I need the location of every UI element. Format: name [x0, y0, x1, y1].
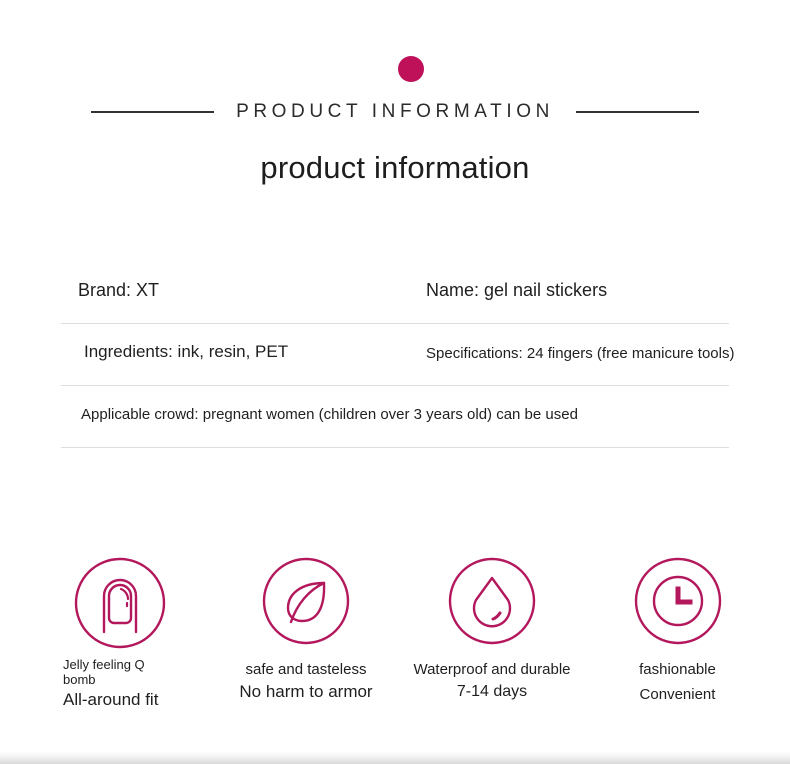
page-bottom-edge	[0, 751, 790, 764]
spec-row: Ingredients: ink, resin, PET Specificati…	[61, 324, 729, 386]
spec-ingredients-label: Ingredients: ink, resin, PET	[84, 324, 288, 363]
product-information-page: PRODUCT INFORMATION product information …	[0, 0, 790, 764]
spec-row: Applicable crowd: pregnant women (childr…	[61, 386, 729, 448]
feature-caption-large: Convenient	[640, 684, 716, 706]
feature-caption-small: safe and tasteless	[246, 662, 367, 677]
spec-row: Brand: XT Name: gel nail stickers	[61, 262, 729, 324]
clock-icon	[633, 556, 723, 646]
feature-caption-large: All-around fit	[63, 689, 158, 711]
eyebrow-title: PRODUCT INFORMATION	[236, 98, 554, 126]
feature-caption-small: fashionable	[639, 662, 716, 677]
feature-caption-large: No harm to armor	[239, 681, 372, 703]
spec-name-label: Name: gel nail stickers	[426, 262, 607, 301]
spec-specifications-label: Specifications: 24 fingers (free manicur…	[426, 326, 734, 365]
feature-caption-small: Jelly feeling Q bomb	[63, 657, 168, 687]
specification-list: Brand: XT Name: gel nail stickers Ingred…	[61, 262, 729, 448]
feature-caption-large: 7-14 days	[457, 681, 527, 703]
brand-logo	[0, 52, 790, 86]
feature-item: safe and tasteless No harm to armor	[236, 556, 376, 703]
feature-item: Waterproof and durable 7-14 days	[412, 556, 572, 703]
three-crescent-dots-logo-icon	[366, 56, 424, 82]
eyebrow-rule-right	[576, 111, 699, 113]
spec-brand-label: Brand: XT	[78, 262, 159, 301]
fingernail-icon	[73, 556, 167, 650]
water-drop-icon	[447, 556, 537, 646]
feature-caption-small: Waterproof and durable	[413, 662, 570, 677]
leaf-icon	[261, 556, 351, 646]
spec-applicable-crowd-label: Applicable crowd: pregnant women (childr…	[81, 387, 578, 426]
feature-item: Jelly feeling Q bomb All-around fit	[63, 556, 181, 711]
feature-item: fashionable Convenient	[600, 556, 755, 706]
eyebrow-rule-left	[91, 111, 214, 113]
section-eyebrow: PRODUCT INFORMATION	[0, 98, 790, 126]
page-title: product information	[0, 150, 790, 186]
